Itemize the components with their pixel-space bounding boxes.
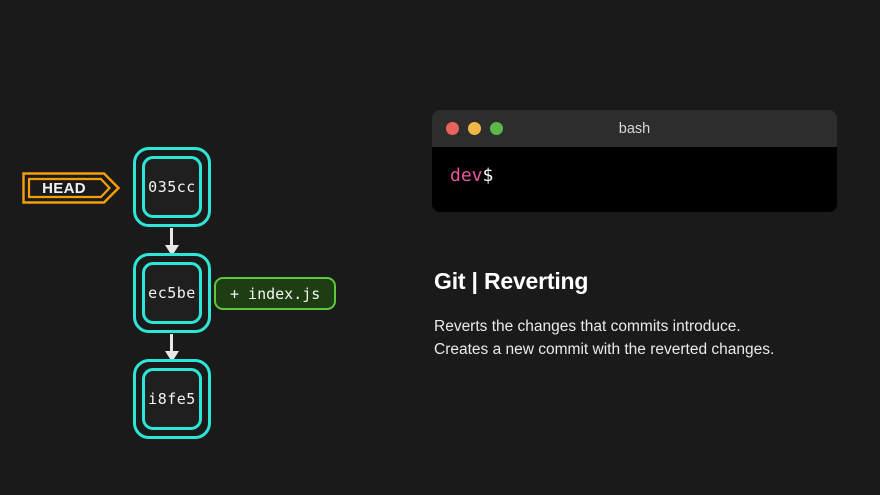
commit-node-i8fe5[interactable]: i8fe5 xyxy=(133,359,211,439)
slide-canvas: HEAD 035cc ec5be + index.js xyxy=(0,0,880,495)
commit-hash-label: ec5be xyxy=(148,284,196,302)
info-panel: Git | Reverting Reverts the changes that… xyxy=(434,268,844,361)
terminal-prompt-symbol: $ xyxy=(483,165,494,186)
commit-node-inner: ec5be xyxy=(142,262,202,324)
head-pointer-label: HEAD xyxy=(22,172,106,204)
commit-node-035cc[interactable]: 035cc xyxy=(133,147,211,227)
commit-hash-label: i8fe5 xyxy=(148,390,196,408)
file-change-label: + index.js xyxy=(230,285,320,303)
terminal-titlebar[interactable]: bash xyxy=(432,110,837,147)
terminal-body[interactable]: dev$ xyxy=(432,147,837,212)
head-pointer-tag[interactable]: HEAD xyxy=(22,172,120,204)
commit-hash-label: 035cc xyxy=(148,178,196,196)
info-description-line-2: Creates a new commit with the reverted c… xyxy=(434,338,844,361)
terminal-prompt-line: dev$ xyxy=(450,165,837,186)
commit-node-inner: 035cc xyxy=(142,156,202,218)
commit-edge-1 xyxy=(170,228,173,245)
terminal-title: bash xyxy=(432,121,837,137)
info-description-line-1: Reverts the changes that commits introdu… xyxy=(434,315,844,338)
commit-node-ec5be[interactable]: ec5be xyxy=(133,253,211,333)
file-change-badge: + index.js xyxy=(214,277,336,310)
commit-edge-2 xyxy=(170,334,173,351)
terminal-window: bash dev$ xyxy=(432,110,837,212)
commit-graph: HEAD 035cc ec5be + index.js xyxy=(0,0,420,495)
commit-node-inner: i8fe5 xyxy=(142,368,202,430)
page-title: Git | Reverting xyxy=(434,268,844,295)
terminal-prompt-user: dev xyxy=(450,165,483,186)
